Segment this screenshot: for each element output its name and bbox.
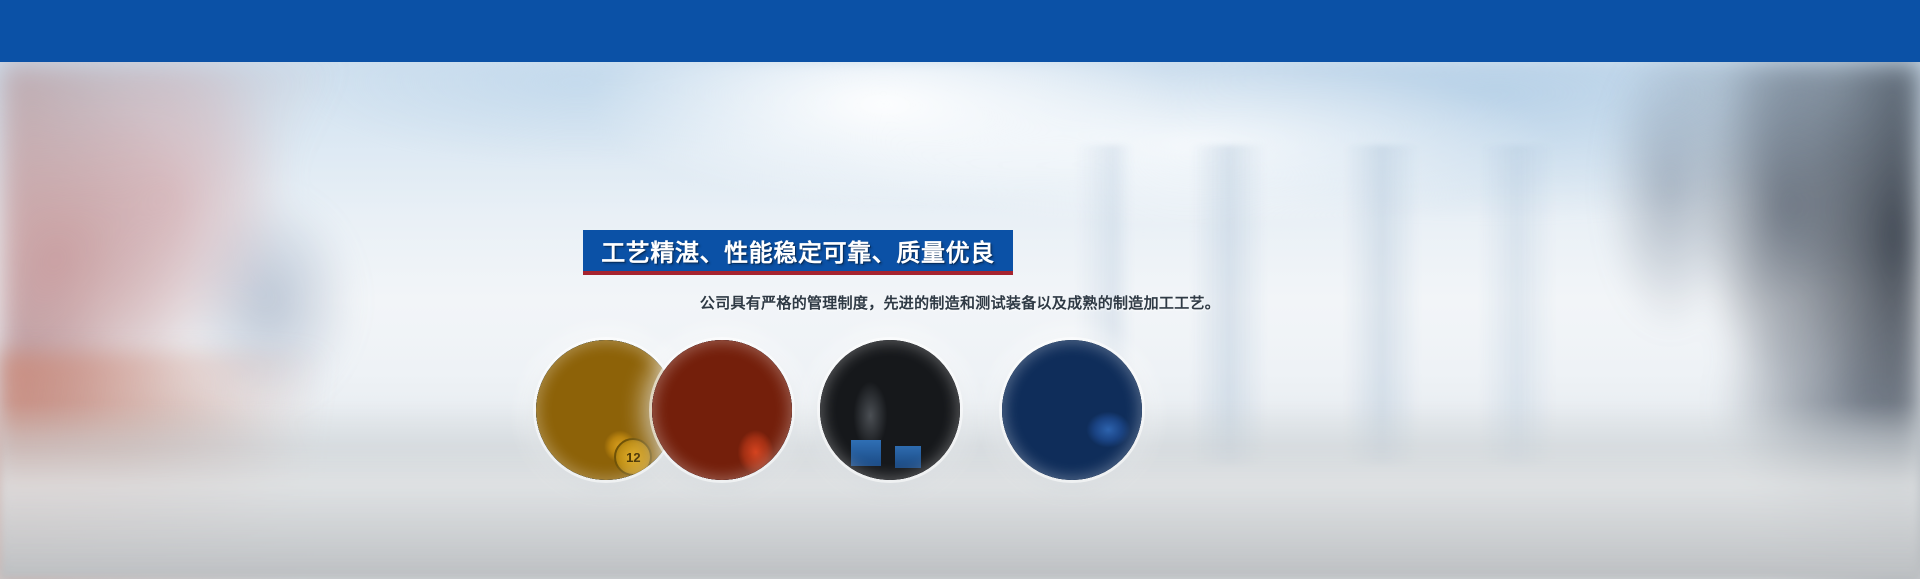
top-blue-bar xyxy=(0,0,1920,62)
photo-image xyxy=(652,340,792,480)
hero-banner: 工艺精湛、性能稳定可靠、质量优良 公司具有严格的管理制度，先进的制造和测试装备以… xyxy=(0,62,1920,579)
pump-row-photo[interactable] xyxy=(652,340,792,480)
headline-plate: 工艺精湛、性能稳定可靠、质量优良 xyxy=(583,230,1013,271)
headline-text: 工艺精湛、性能稳定可靠、质量优良 xyxy=(601,233,995,268)
vertical-inline-pump-photo[interactable] xyxy=(820,340,960,480)
photo-image xyxy=(820,340,960,480)
product-photo-row: 12 xyxy=(0,278,1920,578)
hero-banner-page: 工艺精湛、性能稳定可靠、质量优良 公司具有严格的管理制度，先进的制造和测试装备以… xyxy=(0,0,1920,579)
photo-image xyxy=(1002,340,1142,480)
diesel-engine-pump-photo[interactable] xyxy=(1002,340,1142,480)
